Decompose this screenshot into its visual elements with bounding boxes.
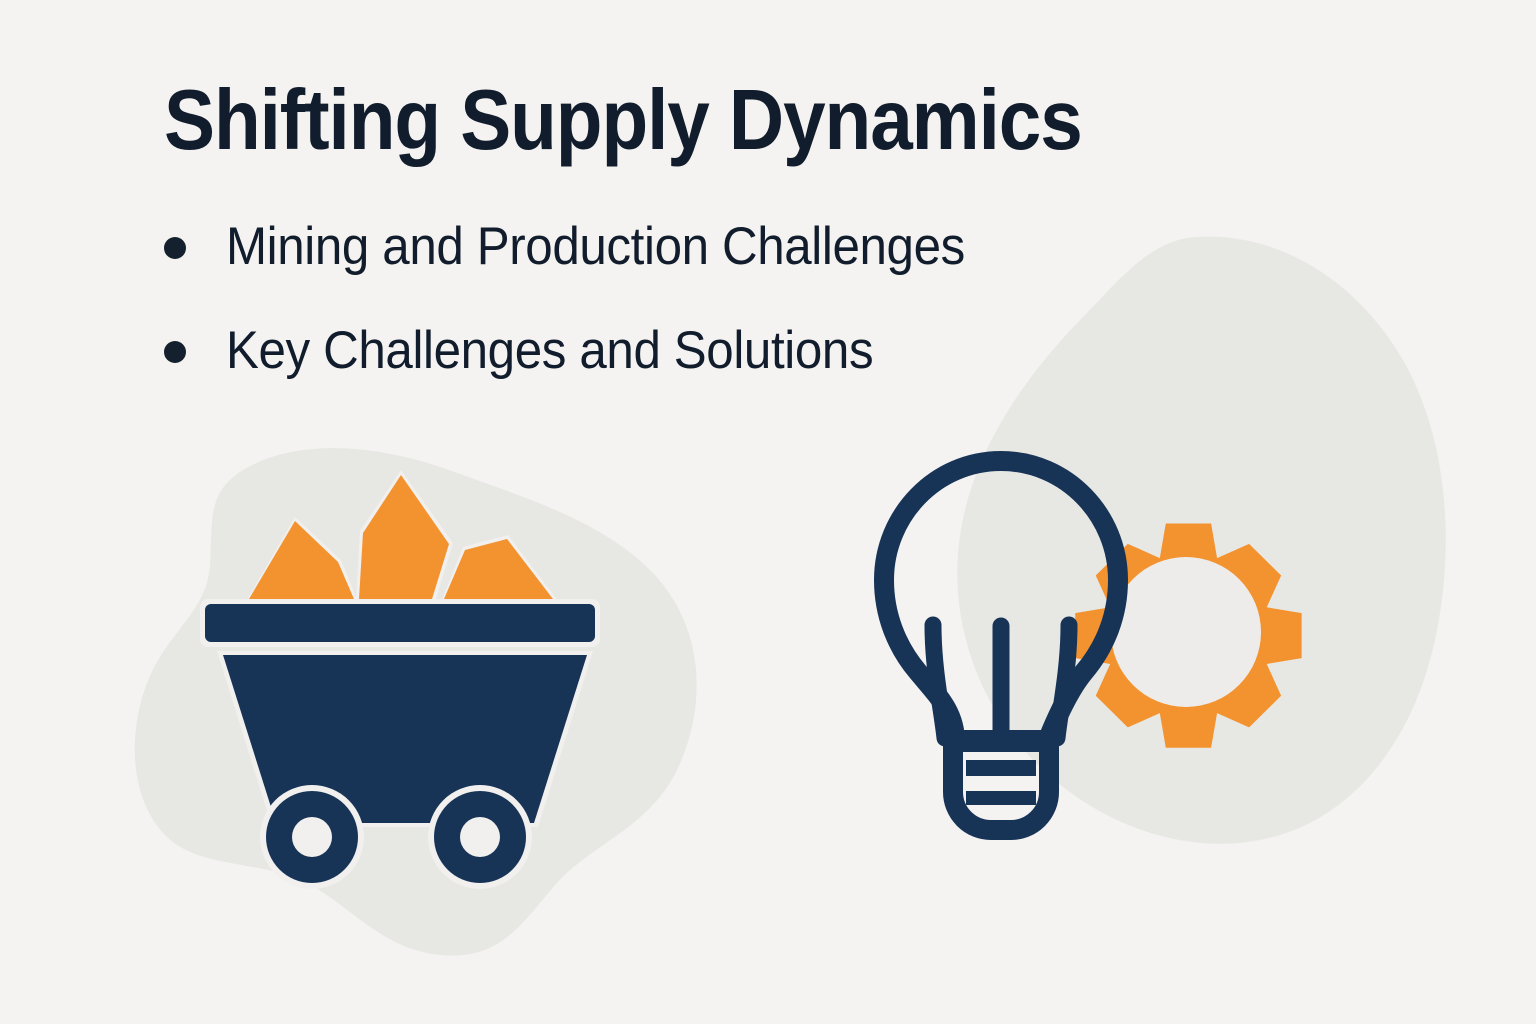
ore-chunk-right <box>441 535 558 602</box>
bullet-list: Mining and Production Challenges Key Cha… <box>164 215 1364 383</box>
list-item: Mining and Production Challenges <box>164 215 1364 279</box>
cart-wheel-right <box>428 785 532 889</box>
page-title: Shifting Supply Dynamics <box>164 78 1244 163</box>
list-item: Key Challenges and Solutions <box>164 319 1364 383</box>
cart-wheel-left <box>260 785 364 889</box>
ore-chunk-left <box>247 517 358 602</box>
ore-chunk-center <box>356 470 453 602</box>
gear-center-hole <box>1111 557 1261 707</box>
cart-body <box>217 651 593 827</box>
lightbulb-base <box>953 740 1049 830</box>
lightbulb-gear-icon <box>840 420 1350 850</box>
bullet-dot-icon <box>164 341 186 363</box>
bullet-item-label: Key Challenges and Solutions <box>226 319 873 383</box>
slide-text-block: Shifting Supply Dynamics Mining and Prod… <box>164 78 1364 423</box>
mine-cart-icon <box>190 455 610 895</box>
slide-canvas: Shifting Supply Dynamics Mining and Prod… <box>0 0 1536 1024</box>
bullet-dot-icon <box>164 237 186 259</box>
bullet-item-label: Mining and Production Challenges <box>226 215 965 279</box>
cart-rim-bar <box>200 599 600 647</box>
